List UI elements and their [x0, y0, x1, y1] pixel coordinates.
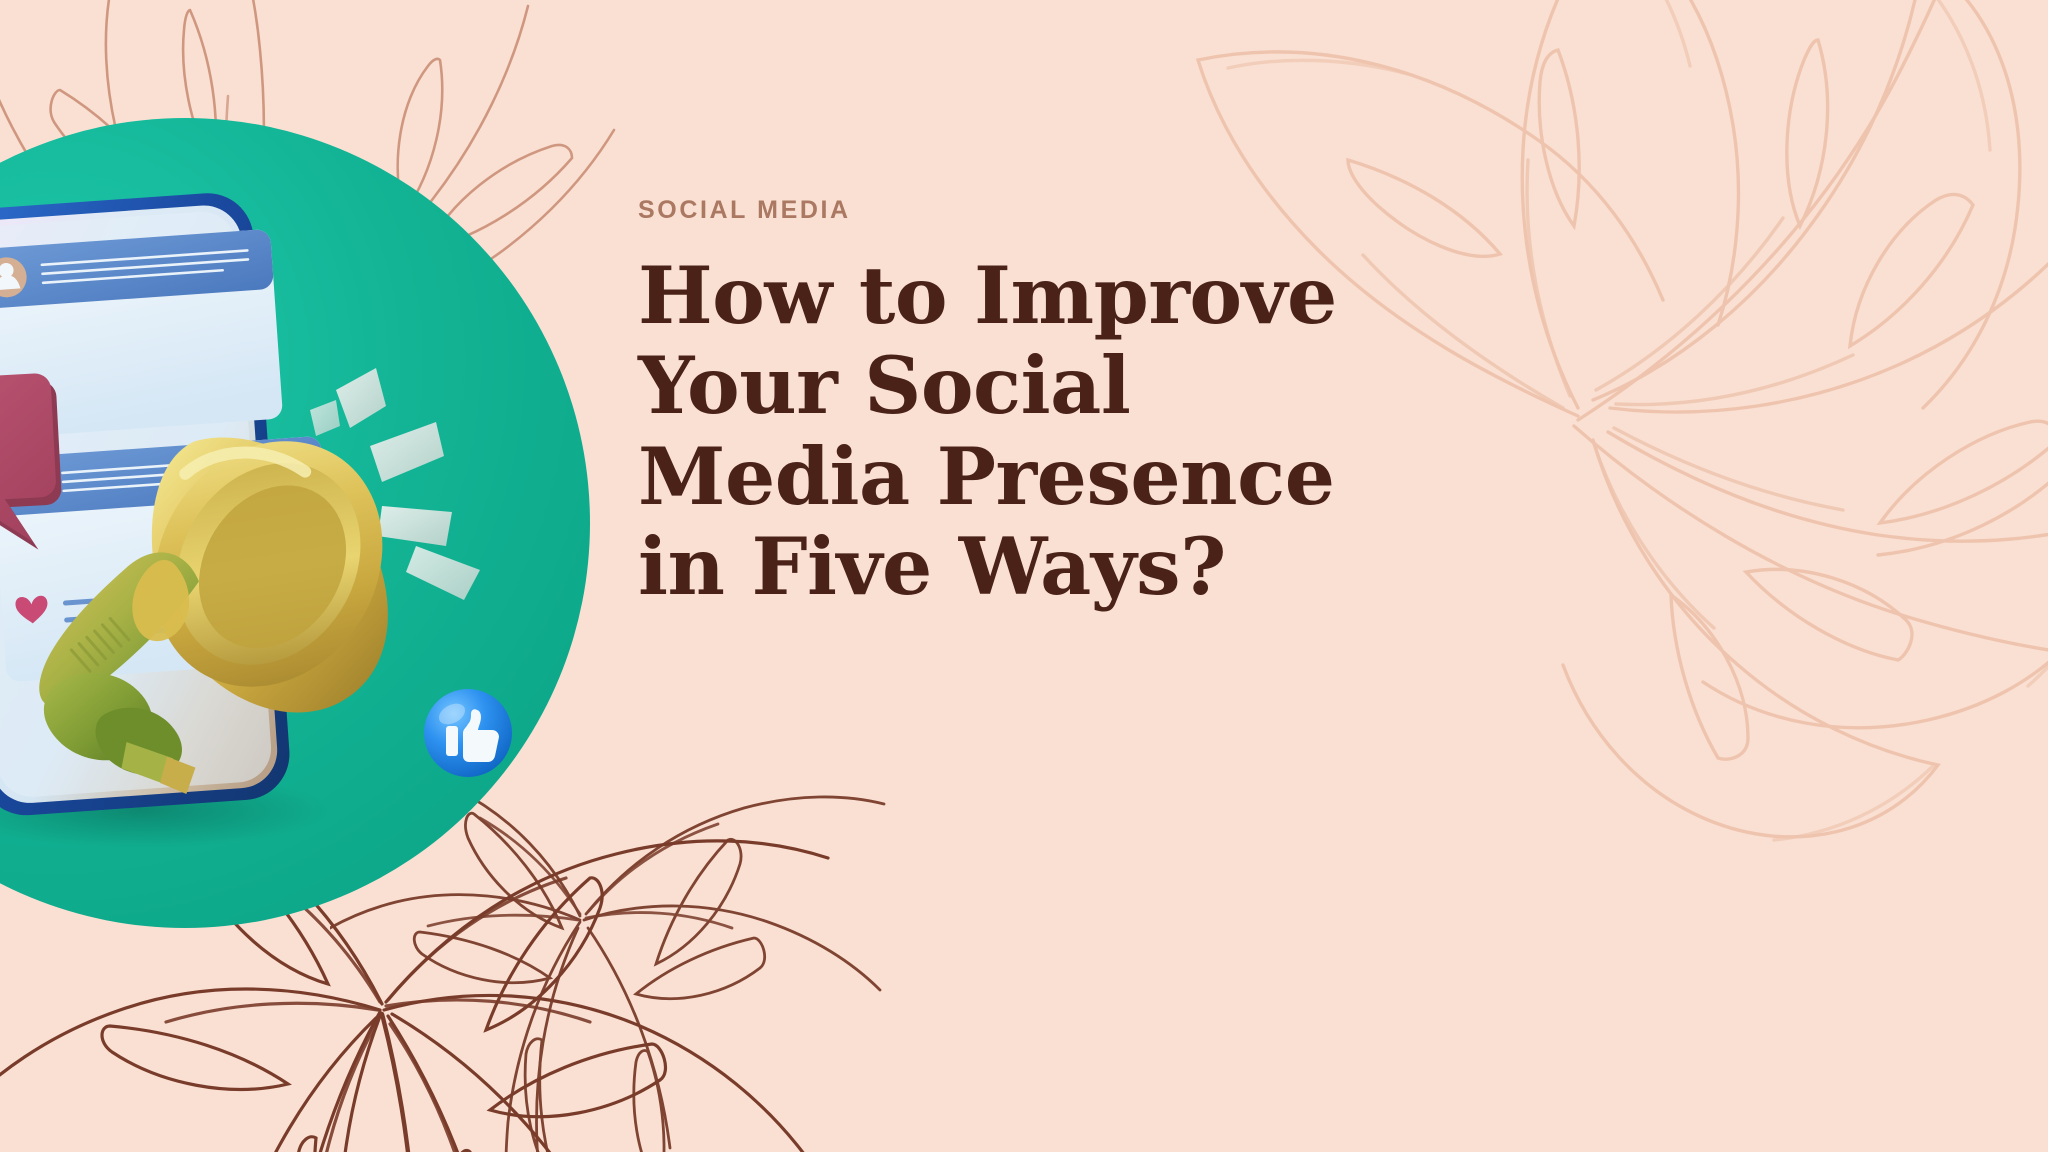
- headline-line: in Five Ways?: [638, 522, 1398, 612]
- thumb-sphere: [424, 689, 512, 777]
- social-media-3d-illustration: [0, 110, 600, 940]
- text-column: SOCIAL MEDIA How to Improve Your Social …: [638, 196, 1398, 613]
- page-title: How to Improve Your Social Media Presenc…: [638, 251, 1398, 613]
- headline-line: Your Social: [638, 341, 1398, 431]
- headline-line: Media Presence: [638, 432, 1398, 522]
- headline-line: How to Improve: [638, 251, 1398, 341]
- poster-canvas: SOCIAL MEDIA How to Improve Your Social …: [0, 0, 2048, 1152]
- category-label: SOCIAL MEDIA: [638, 196, 1398, 225]
